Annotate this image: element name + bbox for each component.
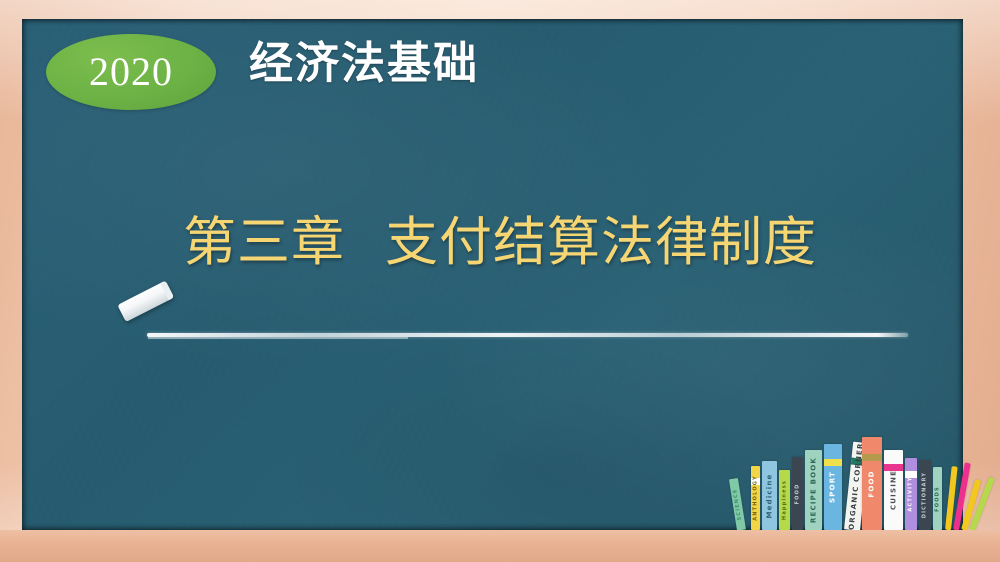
header-title: 经济法基础	[249, 41, 479, 87]
book-spine: ANTHOLOGY	[751, 466, 760, 530]
shelf-ledge	[0, 530, 1000, 562]
bookshelf-illustration: SCIENCEANTHOLOGYMedicineHappinessFOODREC…	[737, 444, 977, 530]
book-title-label: DICTIONARY	[923, 472, 928, 518]
chapter-subject: 支付结算法律制度	[385, 212, 817, 273]
book-band	[824, 459, 842, 466]
book-title-label: FOOD	[795, 483, 800, 504]
book-title-label: ANTHOLOGY	[753, 475, 758, 521]
book-spine: ACTIVITY	[905, 458, 917, 530]
book-spine: CUISINE	[884, 450, 903, 530]
slide-canvas: 2020 经济法基础 第三章支付结算法律制度 SCIENCEANTHOLOGYM…	[0, 0, 1000, 562]
book-spine: FOOD	[862, 437, 882, 530]
book-title-label: RECIPE BOOK	[810, 457, 817, 523]
book-title-label: Medicine	[766, 473, 773, 518]
chapter-number: 第三章	[183, 212, 345, 273]
book-title-label: FOODS	[935, 486, 940, 512]
book-spine: SPORT	[824, 444, 842, 530]
book-spine: FOOD	[792, 457, 803, 530]
book-band	[862, 454, 882, 461]
book-spine: Medicine	[762, 461, 777, 530]
book-spine: FOODS	[933, 467, 942, 530]
year-badge: 2020	[46, 34, 216, 110]
book-title-label: CUISINE	[890, 470, 897, 510]
book-title-label: SCIENCE	[732, 488, 742, 521]
chapter-title: 第三章支付结算法律制度	[0, 214, 1000, 272]
book-title-label: SPORT	[830, 471, 837, 503]
chalk-underline-tail	[148, 337, 408, 339]
book-spine: DICTIONARY	[919, 460, 931, 530]
book-spine: RECIPE BOOK	[805, 450, 822, 530]
book-title-label: FOOD	[869, 470, 876, 497]
book-spine: Happiness	[779, 470, 790, 530]
year-badge-label: 2020	[89, 52, 173, 92]
book-title-label: ACTIVITY	[909, 476, 914, 511]
book-title-label: Happiness	[782, 480, 787, 520]
